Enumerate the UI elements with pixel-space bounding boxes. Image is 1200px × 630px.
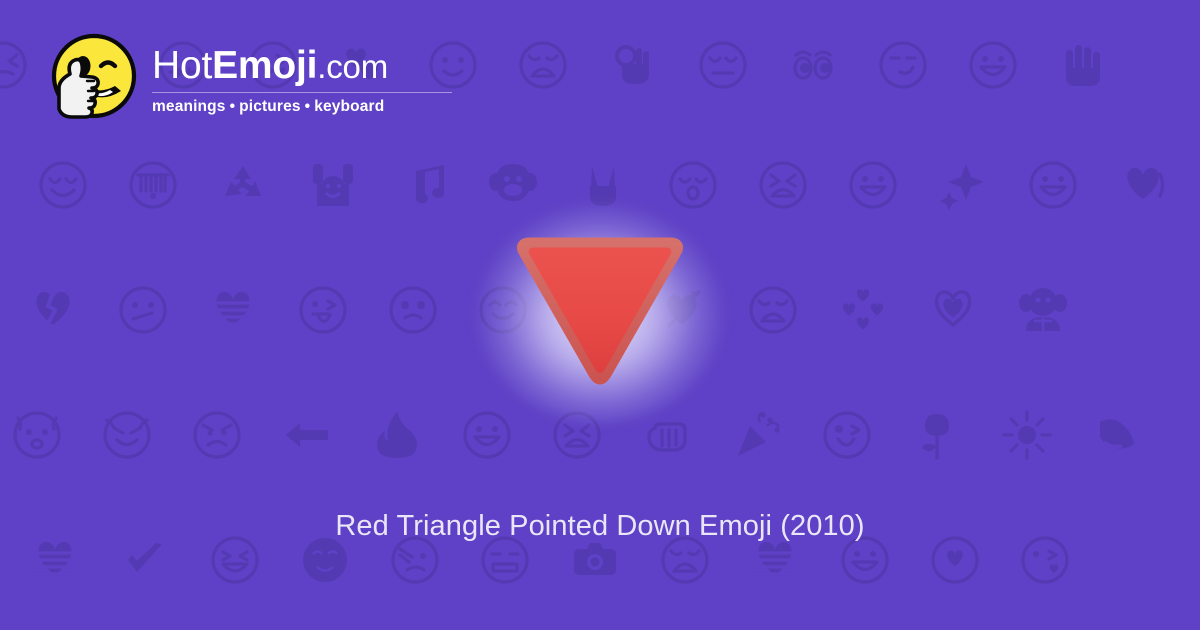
rose-icon bbox=[892, 402, 982, 468]
left-arrow-icon bbox=[262, 402, 352, 468]
relieved-face-icon bbox=[18, 152, 108, 218]
site-wordmark: HotEmoji.com bbox=[152, 44, 452, 89]
sparkles-icon bbox=[918, 152, 1008, 218]
monkey-face-icon bbox=[468, 152, 558, 218]
smirking-face-icon bbox=[858, 32, 948, 98]
wordmark-part-hot: Hot bbox=[152, 44, 212, 87]
tagline-item-pictures: pictures bbox=[239, 98, 301, 115]
tagline-item-keyboard: keyboard bbox=[314, 98, 384, 115]
hero-emoji-container bbox=[0, 222, 1200, 402]
emoji-caption: Red Triangle Pointed Down Emoji (2010) bbox=[0, 510, 1200, 543]
grinning-face-icon bbox=[948, 32, 1038, 98]
red-triangle-pointed-down-icon bbox=[507, 232, 693, 392]
flexed-biceps-icon bbox=[1072, 402, 1162, 468]
site-logo[interactable]: HotEmoji.com meanings•pictures•keyboard bbox=[36, 26, 452, 132]
emoji-preview-card: HotEmoji.com meanings•pictures•keyboard bbox=[0, 0, 1200, 630]
recycling-symbol-icon bbox=[198, 152, 288, 218]
angry-face-icon bbox=[172, 402, 262, 468]
party-popper-icon bbox=[712, 402, 802, 468]
site-tagline: meanings•pictures•keyboard bbox=[152, 98, 452, 116]
abacus-icon bbox=[108, 152, 198, 218]
grinning-face-icon bbox=[442, 402, 532, 468]
ok-hand-icon bbox=[588, 32, 678, 98]
tagline-separator-1: • bbox=[226, 98, 240, 115]
smiling-devil-icon bbox=[82, 402, 172, 468]
sleeping-face-icon bbox=[648, 152, 738, 218]
raising-hands-icon bbox=[288, 152, 378, 218]
zany-face-icon bbox=[802, 402, 892, 468]
tagline-separator-2: • bbox=[301, 98, 315, 115]
mind-blown-face-icon bbox=[0, 402, 82, 468]
grinning-face-icon bbox=[828, 152, 918, 218]
tired-face-icon bbox=[738, 152, 828, 218]
wordmark-part-emoji: Emoji bbox=[212, 44, 317, 87]
logo-text-block: HotEmoji.com meanings•pictures•keyboard bbox=[152, 26, 452, 116]
sun-icon bbox=[982, 402, 1072, 468]
musical-notes-icon bbox=[378, 152, 468, 218]
weary-face-icon bbox=[498, 32, 588, 98]
neutral-face-icon bbox=[678, 32, 768, 98]
wordmark-part-tld: .com bbox=[317, 48, 388, 85]
logo-divider bbox=[152, 92, 452, 93]
fire-icon bbox=[352, 402, 442, 468]
grinning-face-icon bbox=[1008, 152, 1098, 218]
winking-smiley-thumbs-up-icon bbox=[36, 26, 142, 132]
beating-heart-icon bbox=[1098, 152, 1188, 218]
eyes-icon bbox=[768, 32, 858, 98]
raised-hand-icon bbox=[1038, 32, 1128, 98]
tagline-item-meanings: meanings bbox=[152, 98, 226, 115]
